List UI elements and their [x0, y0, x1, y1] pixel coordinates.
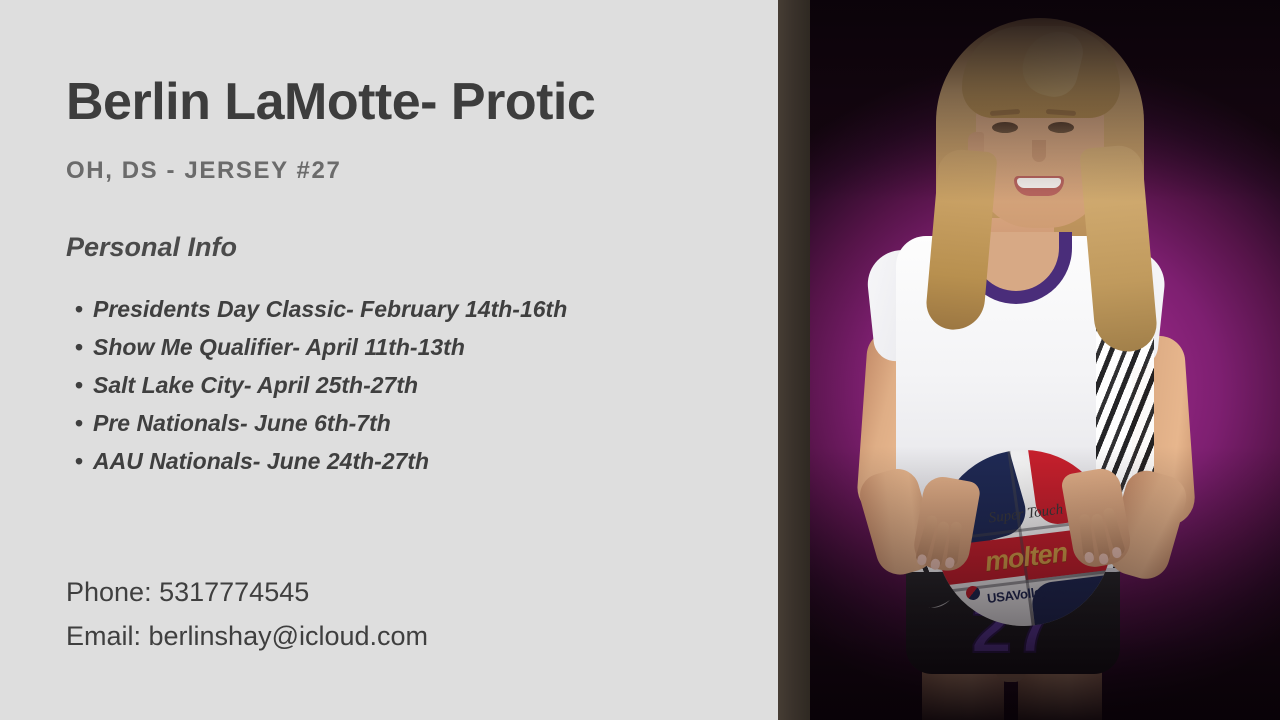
player-info-panel: Berlin LaMotte- Protic OH, DS - JERSEY #…	[0, 0, 778, 720]
contact-block: Phone: 5317774545 Email: berlinshay@iclo…	[66, 570, 706, 658]
list-item: • Show Me Qualifier- April 11th-13th	[66, 328, 706, 366]
bullet-icon: •	[75, 442, 83, 480]
tournament-schedule-list: • Presidents Day Classic- February 14th-…	[66, 290, 706, 480]
bullet-icon: •	[75, 404, 83, 442]
panel-divider	[778, 0, 810, 720]
email-text: Email: berlinshay@icloud.com	[66, 614, 706, 658]
bullet-icon: •	[75, 328, 83, 366]
list-item-label: Pre Nationals- June 6th-7th	[93, 410, 391, 436]
list-item-label: Presidents Day Classic- February 14th-16…	[93, 296, 567, 322]
list-item: • Salt Lake City- April 25th-27th	[66, 366, 706, 404]
player-profile-slide: Berlin LaMotte- Protic OH, DS - JERSEY #…	[0, 0, 1280, 720]
list-item-label: AAU Nationals- June 24th-27th	[93, 448, 429, 474]
page-title: Berlin LaMotte- Protic	[66, 72, 595, 132]
photo-vignette	[810, 0, 1280, 720]
list-item: • Presidents Day Classic- February 14th-…	[66, 290, 706, 328]
bullet-icon: •	[75, 366, 83, 404]
bullet-icon: •	[75, 290, 83, 328]
list-item-label: Salt Lake City- April 25th-27th	[93, 372, 418, 398]
player-photo-panel: 27 Super Touch	[810, 0, 1280, 720]
player-position-subtitle: OH, DS - JERSEY #27	[66, 156, 341, 186]
list-item: • Pre Nationals- June 6th-7th	[66, 404, 706, 442]
list-item-label: Show Me Qualifier- April 11th-13th	[93, 334, 465, 360]
list-item: • AAU Nationals- June 24th-27th	[66, 442, 706, 480]
section-heading-personal-info: Personal Info	[66, 230, 237, 264]
phone-text: Phone: 5317774545	[66, 570, 706, 614]
